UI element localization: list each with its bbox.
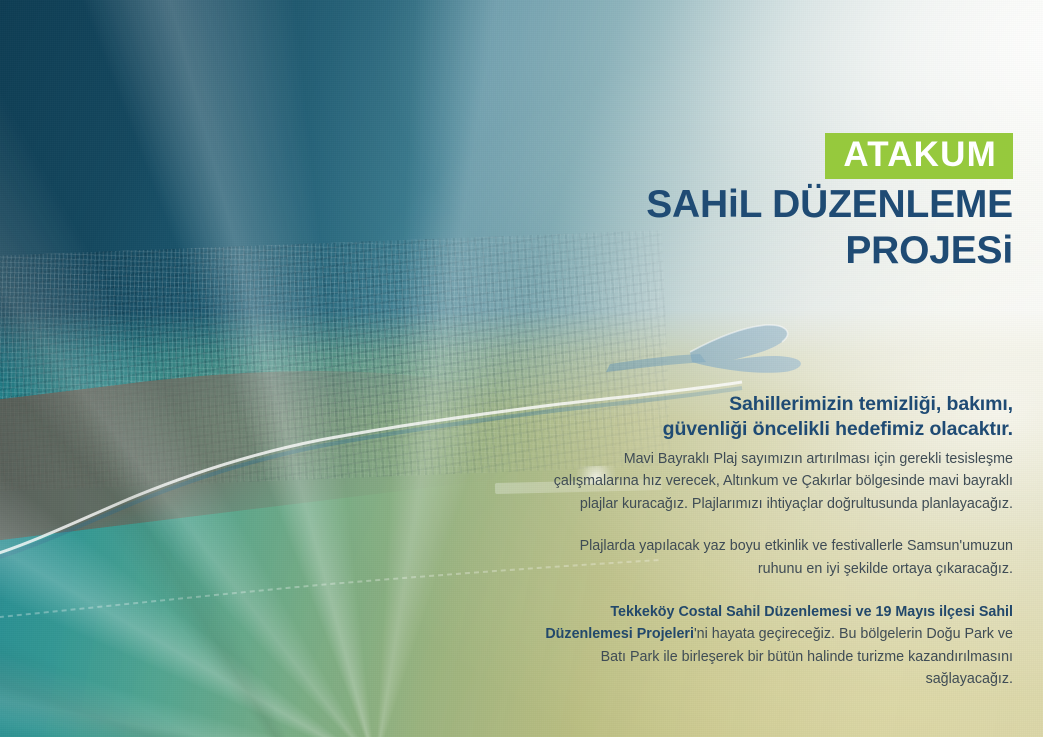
lead-statement: Sahillerimizin temizliği, bakımı, güvenl…: [543, 392, 1013, 443]
paragraph-summer-events: Plajlarda yapılacak yaz boyu etkinlik ve…: [543, 535, 1013, 580]
headline-line-2: PROJESi: [373, 228, 1013, 274]
atakum-badge-label: ATAKUM: [843, 137, 997, 172]
headline-line-1: SAHiL DÜZENLEME: [373, 182, 1013, 228]
poster-copy-column: Sahillerimizin temizliği, bakımı, güvenl…: [543, 392, 1013, 691]
poster-headline: SAHiL DÜZENLEME PROJESi: [373, 182, 1013, 273]
poster-content: ATAKUM SAHiL DÜZENLEME PROJESi Sahilleri…: [0, 0, 1043, 737]
paragraph-blue-flag-beaches: Mavi Bayraklı Plaj sayımızın artırılması…: [543, 448, 1013, 516]
poster-canvas: ATAKUM SAHiL DÜZENLEME PROJESi Sahilleri…: [0, 0, 1043, 737]
lead-line-1: Sahillerimizin temizliği, bakımı,: [729, 393, 1013, 415]
lead-line-2: güvenliği öncelikli hedefimiz olacaktır.: [663, 418, 1013, 440]
atakum-badge: ATAKUM: [825, 133, 1013, 179]
paragraph-coastal-projects: Tekkeköy Costal Sahil Düzenlemesi ve 19 …: [543, 601, 1013, 691]
